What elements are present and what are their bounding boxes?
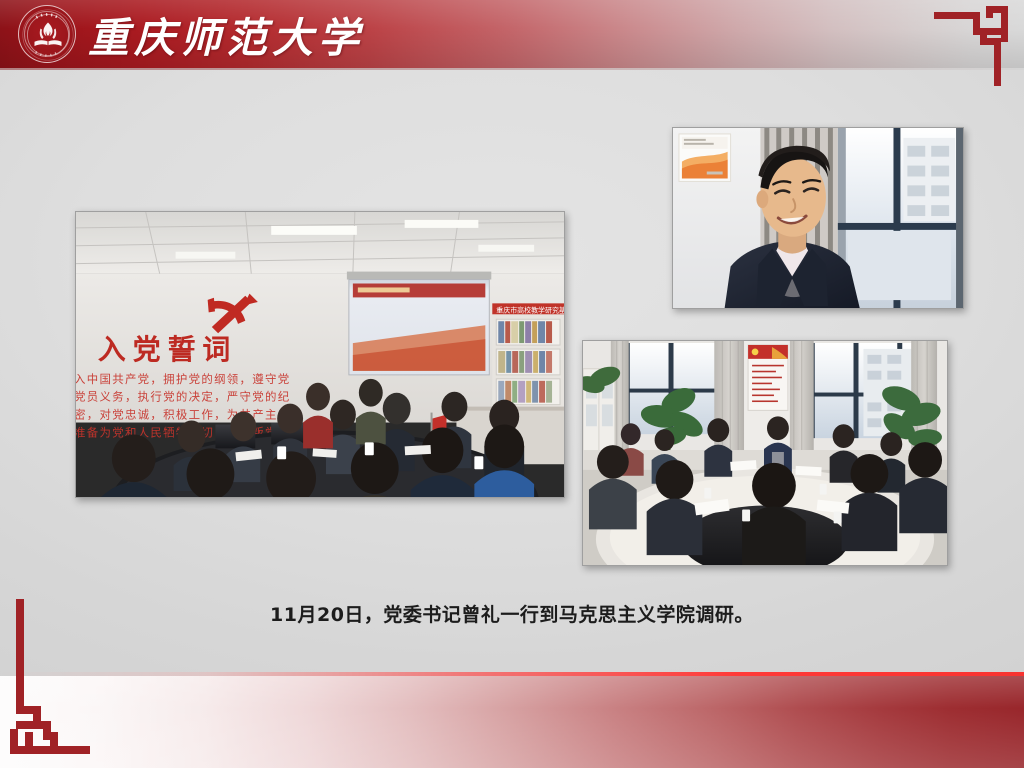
portrait-photo-graphic	[673, 128, 963, 308]
svg-text:入党誓词: 入党誓词	[98, 335, 237, 366]
speaker-portrait-photo	[672, 127, 964, 309]
header-underline	[0, 68, 1024, 70]
round-table-discussion-photo	[582, 340, 948, 566]
logo-glyph-icon	[19, 6, 77, 64]
corner-ornament-bottom-left-icon	[10, 599, 90, 754]
university-logo-icon	[18, 5, 76, 63]
round-table-photo-graphic	[583, 341, 947, 565]
corner-ornament-top-right-icon	[934, 6, 1008, 86]
slide-caption: 11月20日，党委书记曾礼一行到马克思主义学院调研。	[0, 600, 1024, 627]
footer-band	[0, 676, 1024, 768]
meeting-room-photo-graphic: 入党誓词 入中国共产党，拥护党的纲领，遵守党 党员义务，执行党的决定，严守党的纪…	[76, 212, 564, 497]
svg-text:党员义务，执行党的决定，严守党的纪: 党员义务，执行党的决定，严守党的纪	[76, 390, 290, 404]
svg-text:密，对党忠诚，积极工作，为共产主义: 密，对党忠诚，积极工作，为共产主义	[76, 408, 290, 422]
slide-canvas: 重庆师范大学	[0, 0, 1024, 768]
svg-text:重庆市高校教学研究基地: 重庆市高校教学研究基地	[496, 305, 564, 314]
svg-text:入中国共产党，拥护党的纲领，遵守党: 入中国共产党，拥护党的纲领，遵守党	[76, 372, 290, 386]
meeting-room-party-oath-wall-photo: 入党誓词 入中国共产党，拥护党的纲领，遵守党 党员义务，执行党的决定，严守党的纪…	[75, 211, 565, 498]
university-name-title: 重庆师范大学	[88, 4, 364, 64]
